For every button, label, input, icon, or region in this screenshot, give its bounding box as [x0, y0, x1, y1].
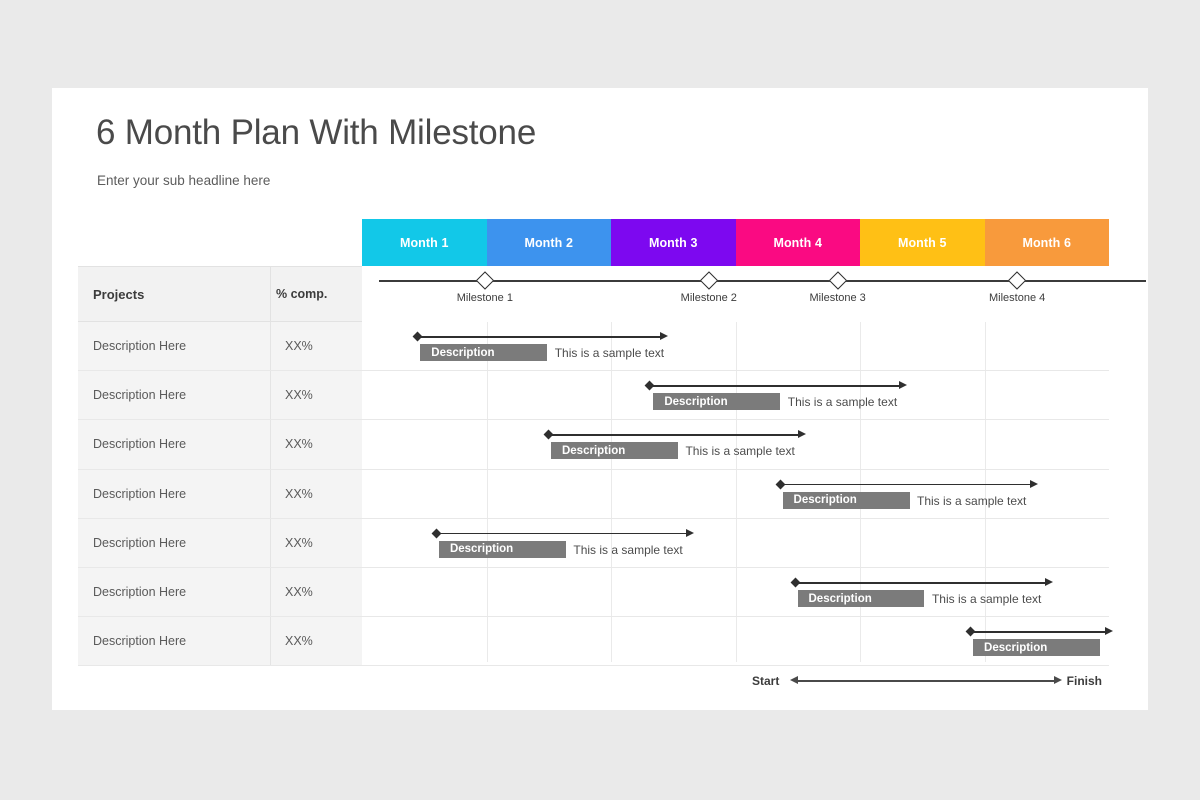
month-header-6[interactable]: Month 6 [985, 219, 1110, 266]
arrow-head-icon [1045, 578, 1053, 586]
gantt-task[interactable]: DescriptionThis is a sample text [362, 519, 1109, 567]
month-label: Month 6 [1022, 236, 1071, 250]
arrow-line [796, 582, 1047, 584]
cell-percent-complete: XX% [270, 322, 362, 370]
arrow-head-icon [798, 430, 806, 438]
task-bar-label: Description [809, 593, 872, 605]
gantt-task[interactable]: DescriptionThis is a sample text [362, 420, 1109, 468]
arrow-head-icon [1105, 627, 1113, 635]
task-bar[interactable]: Description [973, 639, 1100, 656]
gantt-task[interactable]: DescriptionThis is a sample text [362, 470, 1109, 518]
task-duration-arrow [646, 381, 907, 391]
cell-project-name: Description Here [78, 470, 270, 518]
arrow-line [971, 631, 1107, 633]
task-duration-arrow [414, 332, 668, 342]
task-bar[interactable]: Description [798, 590, 925, 607]
cell-project-name: Description Here [78, 519, 270, 567]
cell-timeline-track: DescriptionThis is a sample text [362, 420, 1109, 468]
gantt-task[interactable]: Description [362, 617, 1109, 665]
task-duration-arrow [967, 627, 1113, 637]
milestone-marker-3[interactable]: Milestone 3 [831, 274, 844, 287]
start-label: Start [752, 674, 779, 688]
arrow-right-icon [1054, 676, 1062, 684]
gantt-task[interactable]: DescriptionThis is a sample text [362, 568, 1109, 616]
diamond-icon [476, 271, 494, 289]
cell-timeline-track: DescriptionThis is a sample text [362, 519, 1109, 567]
page-subtitle: Enter your sub headline here [97, 173, 270, 188]
task-bar-label: Description [431, 347, 494, 359]
month-header-2[interactable]: Month 2 [487, 219, 612, 266]
milestone-marker-2[interactable]: Milestone 2 [702, 274, 715, 287]
task-bar-label: Description [794, 494, 857, 506]
month-header-5[interactable]: Month 5 [860, 219, 985, 266]
cell-timeline-track: Description [362, 617, 1109, 665]
arrow-head-icon [686, 529, 694, 537]
diamond-icon [700, 271, 718, 289]
milestone-band: Milestone 1Milestone 2Milestone 3Milesto… [362, 266, 1162, 322]
slide-card: 6 Month Plan With Milestone Enter your s… [52, 88, 1148, 710]
task-bar[interactable]: Description [439, 541, 566, 558]
task-note: This is a sample text [555, 346, 664, 360]
column-header-projects: Projects [93, 287, 144, 302]
task-bar[interactable]: Description [420, 344, 547, 361]
task-duration-arrow [545, 430, 806, 440]
diamond-icon [1008, 271, 1026, 289]
table-header: Projects % comp. [78, 266, 362, 322]
gantt-task[interactable]: DescriptionThis is a sample text [362, 371, 1109, 419]
table-row[interactable]: Description HereXX%DescriptionThis is a … [78, 470, 1109, 519]
cell-project-name: Description Here [78, 322, 270, 370]
gantt-rows-area: Description HereXX%DescriptionThis is a … [78, 322, 1109, 662]
cell-timeline-track: DescriptionThis is a sample text [362, 470, 1109, 518]
task-bar-label: Description [450, 543, 513, 555]
table-row[interactable]: Description HereXX%DescriptionThis is a … [78, 519, 1109, 568]
task-bar-label: Description [562, 445, 625, 457]
milestone-label: Milestone 2 [681, 292, 737, 304]
cell-project-name: Description Here [78, 420, 270, 468]
milestone-label: Milestone 4 [989, 292, 1045, 304]
milestone-label: Milestone 3 [810, 292, 866, 304]
milestone-marker-4[interactable]: Milestone 4 [1011, 274, 1024, 287]
month-header-4[interactable]: Month 4 [736, 219, 861, 266]
task-bar[interactable]: Description [783, 492, 910, 509]
table-row[interactable]: Description HereXX%DescriptionThis is a … [78, 371, 1109, 420]
cell-percent-complete: XX% [270, 617, 362, 665]
month-header-strip: Month 1Month 2Month 3Month 4Month 5Month… [362, 219, 1109, 266]
table-row[interactable]: Description HereXX%DescriptionThis is a … [78, 322, 1109, 371]
task-note: This is a sample text [685, 444, 794, 458]
gantt-task[interactable]: DescriptionThis is a sample text [362, 322, 1109, 370]
month-label: Month 3 [649, 236, 698, 250]
cell-percent-complete: XX% [270, 568, 362, 616]
arrow-head-icon [660, 332, 668, 340]
table-row[interactable]: Description HereXX%DescriptionThis is a … [78, 568, 1109, 617]
task-note: This is a sample text [788, 395, 897, 409]
milestone-label: Milestone 1 [457, 292, 513, 304]
cell-percent-complete: XX% [270, 470, 362, 518]
month-label: Month 5 [898, 236, 947, 250]
cell-percent-complete: XX% [270, 519, 362, 567]
arrow-line [418, 336, 662, 338]
arrow-line [650, 385, 901, 387]
cell-project-name: Description Here [78, 568, 270, 616]
cell-timeline-track: DescriptionThis is a sample text [362, 322, 1109, 370]
cell-percent-complete: XX% [270, 371, 362, 419]
task-bar-label: Description [984, 642, 1047, 654]
cell-project-name: Description Here [78, 371, 270, 419]
task-note: This is a sample text [917, 494, 1026, 508]
month-header-1[interactable]: Month 1 [362, 219, 487, 266]
milestone-marker-1[interactable]: Milestone 1 [478, 274, 491, 287]
finish-label: Finish [1067, 674, 1102, 688]
task-bar-label: Description [664, 396, 727, 408]
month-label: Month 2 [524, 236, 573, 250]
month-header-3[interactable]: Month 3 [611, 219, 736, 266]
cell-percent-complete: XX% [270, 420, 362, 468]
axis-line [798, 680, 1054, 682]
arrow-line [437, 533, 688, 535]
task-note: This is a sample text [932, 592, 1041, 606]
task-note: This is a sample text [573, 543, 682, 557]
arrow-head-icon [899, 381, 907, 389]
cell-project-name: Description Here [78, 617, 270, 665]
month-label: Month 1 [400, 236, 449, 250]
table-row[interactable]: Description HereXX%Description [78, 617, 1109, 666]
table-row[interactable]: Description HereXX%DescriptionThis is a … [78, 420, 1109, 469]
task-bar[interactable]: Description [653, 393, 780, 410]
task-bar[interactable]: Description [551, 442, 678, 459]
task-duration-arrow [777, 480, 1038, 490]
month-label: Month 4 [773, 236, 822, 250]
page-title: 6 Month Plan With Milestone [96, 113, 536, 153]
task-duration-arrow [792, 578, 1053, 588]
cell-timeline-track: DescriptionThis is a sample text [362, 371, 1109, 419]
task-duration-arrow [433, 529, 694, 539]
arrow-line [781, 484, 1032, 486]
column-header-percent-complete: % comp. [276, 287, 327, 301]
arrow-head-icon [1030, 480, 1038, 488]
arrow-line [549, 434, 800, 436]
diamond-icon [828, 271, 846, 289]
header-column-divider [270, 267, 271, 323]
arrow-left-icon [790, 676, 798, 684]
cell-timeline-track: DescriptionThis is a sample text [362, 568, 1109, 616]
start-finish-axis: Start Finish [752, 670, 1102, 692]
